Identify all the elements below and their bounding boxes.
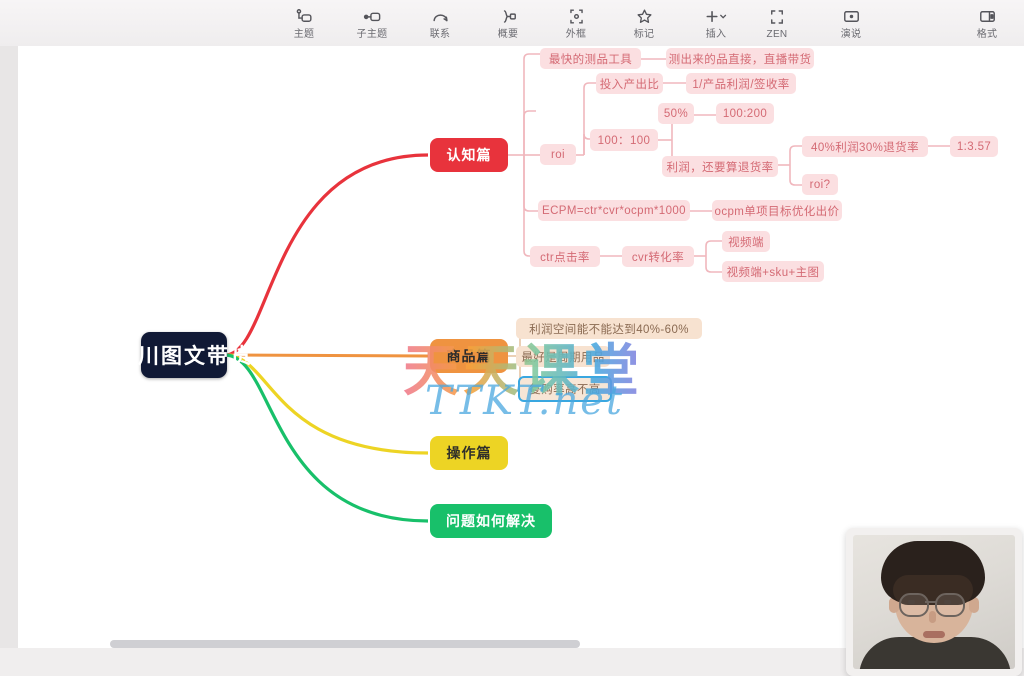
toolbar-button-zen[interactable]: ZEN [754, 7, 800, 40]
toolbar-label: 格式 [977, 29, 998, 40]
branch-node-cognition[interactable]: 认知篇 [430, 138, 508, 172]
toolbar-label: 主题 [294, 29, 315, 40]
presenter-hair [881, 541, 985, 603]
toolbar-label: 插入 [706, 29, 727, 40]
branch-node-product[interactable]: 商品篇 [430, 339, 508, 373]
leaf-ratio-1-357[interactable]: 1:3.57 [950, 136, 998, 157]
branch-node-operation[interactable]: 操作篇 [430, 436, 508, 470]
leaf-profit-return[interactable]: 利润，还要算退货率 [662, 156, 778, 177]
mindmap-canvas[interactable]: 千川图文带货 认知篇 商品篇 操作篇 问题如何解决 最快的测品工具 测出来的品直… [18, 46, 1024, 648]
leaf-repurchase-selected[interactable]: 复购率高不高 [518, 376, 612, 402]
toolbar-button-mark[interactable]: 标记 [621, 7, 667, 40]
branch-label: 认知篇 [447, 145, 492, 165]
leaf-label: roi [551, 149, 565, 161]
toolbar-button-presentation[interactable]: 演说 [828, 7, 874, 40]
webcam-overlay[interactable] [846, 528, 1022, 676]
star-mark-icon [635, 7, 654, 27]
leaf-label: 1/产品利润/签收率 [692, 76, 789, 92]
branch-label: 问题如何解决 [446, 511, 536, 531]
leaf-label: 投入产出比 [600, 76, 660, 92]
mindmap: 千川图文带货 认知篇 商品篇 操作篇 问题如何解决 最快的测品工具 测出来的品直… [18, 46, 1024, 648]
leaf-label: 复购率高不高 [529, 381, 600, 397]
toolbar-label: 演说 [841, 29, 862, 40]
topic-icon [295, 7, 314, 27]
toolbar-label: ZEN [767, 29, 788, 40]
toolbar-label: 外框 [566, 29, 587, 40]
leaf-label: 100:200 [723, 108, 767, 120]
format-panel-icon [978, 7, 997, 27]
horizontal-scrollbar[interactable] [110, 640, 580, 648]
presenter-mouth [923, 631, 945, 638]
leaf-input-output-ratio[interactable]: 投入产出比 [596, 73, 663, 94]
frame-icon [567, 7, 586, 27]
leaf-label: ECPM=ctr*cvr*ocpm*1000 [542, 205, 686, 217]
leaf-roi[interactable]: roi [540, 144, 576, 165]
leaf-label: 40%利润30%退货率 [811, 139, 919, 155]
leaf-pct-50[interactable]: 50% [658, 103, 694, 124]
leaf-label: 100：100 [598, 132, 651, 148]
leaf-label: 测出来的品直接，直播带货 [669, 51, 812, 67]
root-node[interactable]: 千川图文带货 [141, 332, 227, 378]
leaf-label: 最快的测品工具 [549, 51, 632, 67]
toolbar-button-subtopic[interactable]: 子主题 [349, 7, 395, 40]
toolbar: 主题 子主题 联系 [0, 0, 1024, 47]
leaf-ecpm[interactable]: ECPM=ctr*cvr*ocpm*1000 [538, 200, 690, 221]
toolbar-label: 联系 [430, 29, 451, 40]
toolbar-label: 概要 [498, 29, 519, 40]
toolbar-right-group: 格式 [964, 0, 1010, 46]
leaf-roi-question[interactable]: roi? [802, 174, 838, 195]
summary-icon [499, 7, 518, 27]
leaf-ratio-100-100[interactable]: 100：100 [590, 129, 658, 151]
leaf-fastest-tool-child[interactable]: 测出来的品直接，直播带货 [666, 48, 814, 69]
leaf-label: 利润空间能不能达到40%-60% [529, 321, 689, 337]
left-gutter [0, 46, 18, 648]
leaf-label: 视频端 [728, 234, 764, 250]
leaf-label: cvr转化率 [632, 249, 684, 265]
leaf-label: 50% [664, 108, 688, 120]
leaf-ocpm[interactable]: ocpm单项目标优化出价 [712, 200, 842, 221]
leaf-non-seasonal[interactable]: 最好是周期用品 [516, 346, 610, 367]
toolbar-button-format[interactable]: 格式 [964, 7, 1010, 40]
leaf-label: ctr点击率 [540, 249, 590, 265]
presentation-icon [842, 7, 861, 27]
toolbar-button-insert[interactable]: 插入 [689, 7, 743, 40]
zen-icon [768, 7, 786, 27]
leaf-profit-return-detail[interactable]: 40%利润30%退货率 [802, 136, 928, 157]
toolbar-button-relation[interactable]: 联系 [417, 7, 463, 40]
app-window: 主题 子主题 联系 [0, 0, 1024, 648]
plus-insert-icon [703, 7, 729, 27]
relation-icon [431, 7, 450, 27]
leaf-ratio-100-200[interactable]: 100:200 [716, 103, 774, 124]
toolbar-button-frame[interactable]: 外框 [553, 7, 599, 40]
leaf-ctr[interactable]: ctr点击率 [530, 246, 600, 267]
subtopic-icon [363, 7, 382, 27]
branch-label: 操作篇 [447, 443, 492, 463]
branch-label: 商品篇 [447, 346, 492, 366]
leaf-label: roi? [810, 179, 831, 191]
presenter-glasses-left [899, 593, 929, 617]
leaf-cvr[interactable]: cvr转化率 [622, 246, 694, 267]
leaf-video-end[interactable]: 视频端 [722, 231, 770, 252]
leaf-label: 最好是周期用品 [521, 349, 604, 365]
leaf-label: ocpm单项目标优化出价 [715, 203, 840, 219]
presenter-nose [929, 611, 936, 623]
webcam-video [853, 535, 1015, 669]
leaf-fastest-tool[interactable]: 最快的测品工具 [540, 48, 641, 69]
leaf-label: 利润，还要算退货率 [666, 159, 773, 175]
presenter-glasses-bridge [925, 601, 937, 603]
leaf-label: 1:3.57 [957, 141, 991, 153]
leaf-label: 视频端+sku+主图 [727, 264, 820, 280]
toolbar-button-summary[interactable]: 概要 [485, 7, 531, 40]
branch-node-problem-solving[interactable]: 问题如何解决 [430, 504, 552, 538]
leaf-profit-margin[interactable]: 利润空间能不能达到40%-60% [516, 318, 702, 339]
toolbar-label: 标记 [634, 29, 655, 40]
leaf-input-output-formula[interactable]: 1/产品利润/签收率 [686, 73, 796, 94]
toolbar-center-group: 主题 子主题 联系 [281, 0, 743, 46]
root-node-label: 千川图文带货 [115, 340, 253, 370]
toolbar-label: 子主题 [357, 29, 388, 40]
toolbar-button-topic[interactable]: 主题 [281, 7, 327, 40]
leaf-video-sku-main[interactable]: 视频端+sku+主图 [722, 261, 824, 282]
presenter-glasses-right [935, 593, 965, 617]
toolbar-view-group: ZEN 演说 [754, 0, 874, 46]
